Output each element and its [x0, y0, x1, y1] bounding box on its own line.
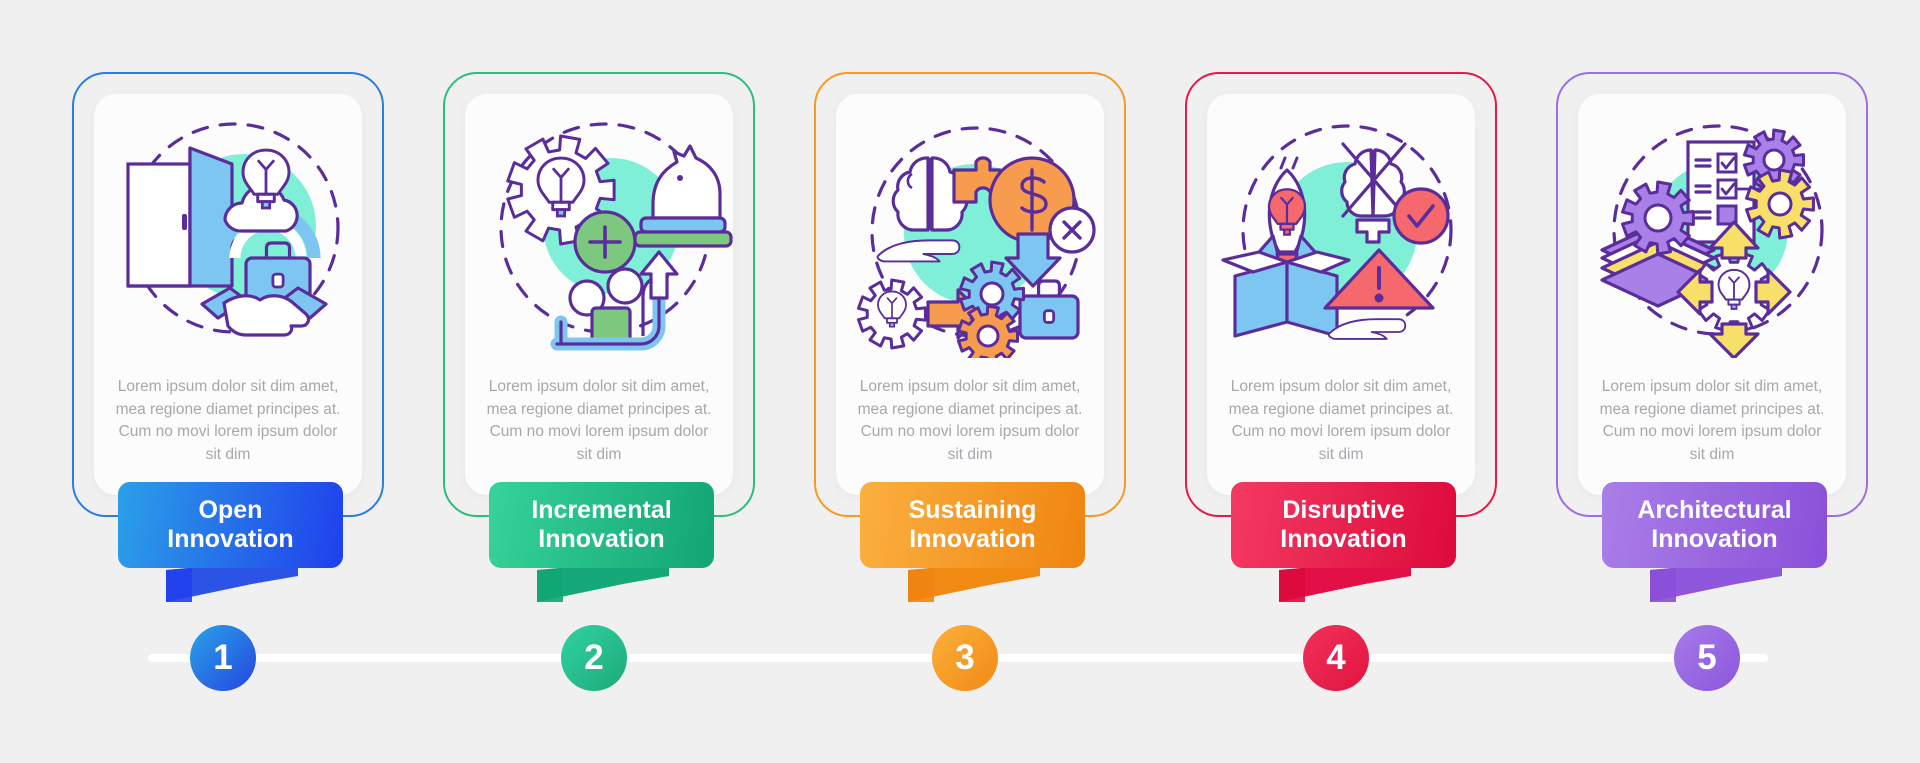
- ribbon-tail-2: [537, 562, 687, 619]
- card-4[interactable]: Lorem ipsum dolor sit dim amet, mea regi…: [1185, 72, 1497, 517]
- timeline-marker-1[interactable]: 1: [190, 625, 256, 691]
- card-1[interactable]: Lorem ipsum dolor sit dim amet, mea regi…: [72, 72, 384, 517]
- ribbon-label-2[interactable]: Incremental Innovation: [489, 482, 714, 568]
- ribbon-title: Sustaining Innovation: [909, 496, 1037, 554]
- timeline-marker-number: 5: [1697, 638, 1716, 678]
- card-inner: Lorem ipsum dolor sit dim amet, mea regi…: [836, 94, 1104, 495]
- ribbon-tail-4: [1279, 562, 1429, 619]
- ribbon-title-line2: Innovation: [538, 525, 664, 553]
- ribbon-title-line1: Disruptive: [1282, 496, 1404, 524]
- card-body-text: Lorem ipsum dolor sit dim amet, mea regi…: [854, 376, 1086, 466]
- card-2[interactable]: Lorem ipsum dolor sit dim amet, mea regi…: [443, 72, 755, 517]
- card-inner: Lorem ipsum dolor sit dim amet, mea regi…: [465, 94, 733, 495]
- rocket-box-brain-warning-icon: [1207, 108, 1475, 358]
- ribbon-label-4[interactable]: Disruptive Innovation: [1231, 482, 1456, 568]
- ribbon-title-line2: Innovation: [167, 525, 293, 553]
- card-inner: Lorem ipsum dolor sit dim amet, mea regi…: [1207, 94, 1475, 495]
- card-body-text: Lorem ipsum dolor sit dim amet, mea regi…: [112, 376, 344, 466]
- ribbon-title-line2: Innovation: [909, 525, 1035, 553]
- ribbon-title-line1: Sustaining: [909, 496, 1037, 524]
- timeline-marker-2[interactable]: 2: [561, 625, 627, 691]
- card-inner: Lorem ipsum dolor sit dim amet, mea regi…: [1578, 94, 1846, 495]
- card-inner: Lorem ipsum dolor sit dim amet, mea regi…: [94, 94, 362, 495]
- ribbon-title-line1: Incremental: [531, 496, 671, 524]
- card-body-text: Lorem ipsum dolor sit dim amet, mea regi…: [483, 376, 715, 466]
- ribbon-title-line2: Innovation: [1280, 525, 1406, 553]
- card-body-text: Lorem ipsum dolor sit dim amet, mea regi…: [1596, 376, 1828, 466]
- card-5[interactable]: Lorem ipsum dolor sit dim amet, mea regi…: [1556, 72, 1868, 517]
- ribbon-title: Architectural Innovation: [1637, 496, 1791, 554]
- ribbon-label-3[interactable]: Sustaining Innovation: [860, 482, 1085, 568]
- ribbon-tail-3: [908, 562, 1058, 619]
- timeline-marker-number: 2: [584, 638, 603, 678]
- card-3[interactable]: Lorem ipsum dolor sit dim amet, mea regi…: [814, 72, 1126, 517]
- checklist-gears-layers-bulb-icon: [1578, 108, 1846, 358]
- timeline-marker-number: 1: [213, 638, 232, 678]
- ribbon-title-line2: Innovation: [1651, 525, 1777, 553]
- card-body-text: Lorem ipsum dolor sit dim amet, mea regi…: [1225, 376, 1457, 466]
- timeline-marker-number: 3: [955, 638, 974, 678]
- timeline-marker-3[interactable]: 3: [932, 625, 998, 691]
- infographic-board: Lorem ipsum dolor sit dim amet, mea regi…: [0, 0, 1920, 763]
- brain-hand-dollar-gears-briefcase-icon: [836, 108, 1104, 358]
- ribbon-title-line1: Open: [199, 496, 263, 524]
- ribbon-label-5[interactable]: Architectural Innovation: [1602, 482, 1827, 568]
- gear-bulb-chess-knight-growth-icon: [465, 108, 733, 358]
- ribbon-title: Open Innovation: [167, 496, 293, 554]
- open-door-handshake-lightbulb-icon: [94, 108, 362, 358]
- ribbon-title-line1: Architectural: [1637, 496, 1791, 524]
- cards-row: Lorem ipsum dolor sit dim amet, mea regi…: [0, 0, 1920, 763]
- timeline-marker-number: 4: [1326, 638, 1345, 678]
- timeline-marker-4[interactable]: 4: [1303, 625, 1369, 691]
- ribbon-title: Disruptive Innovation: [1280, 496, 1406, 554]
- ribbon-label-1[interactable]: Open Innovation: [118, 482, 343, 568]
- ribbon-tail-1: [166, 562, 316, 619]
- ribbon-title: Incremental Innovation: [531, 496, 671, 554]
- timeline-marker-5[interactable]: 5: [1674, 625, 1740, 691]
- ribbon-tail-5: [1650, 562, 1800, 619]
